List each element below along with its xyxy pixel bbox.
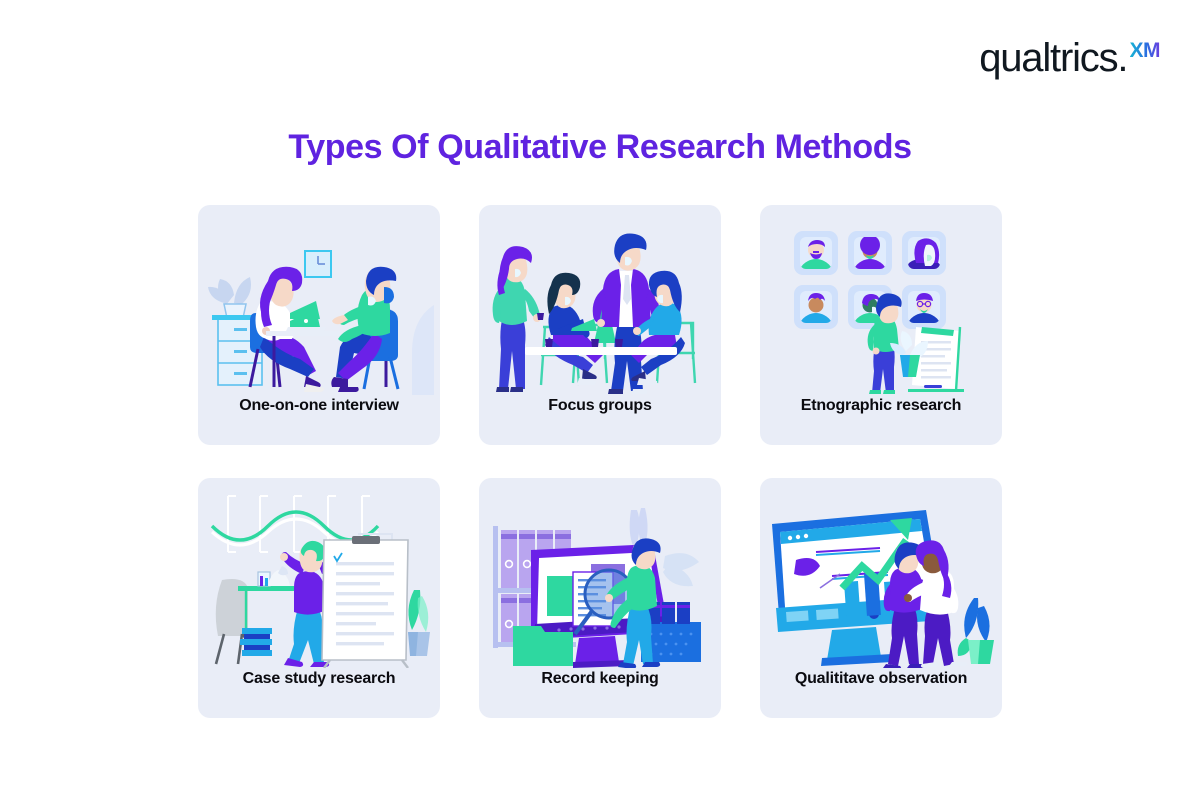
- illustration-avatar-grid-with-observer: [760, 205, 1002, 395]
- method-card-record-keeping[interactable]: Record keeping: [479, 478, 721, 718]
- illustration-monitor-charts-two-people: [760, 478, 1002, 668]
- infographic-page: qualtrics . XM Types Of Qualitative Rese…: [0, 0, 1200, 800]
- illustration-person-writing-on-flipchart: [198, 478, 440, 668]
- illustration-four-people-around-table: [479, 205, 721, 395]
- card-label-case-study-research: Case study research: [198, 670, 440, 688]
- method-card-one-on-one-interview[interactable]: One-on-one interview: [198, 205, 440, 445]
- method-card-focus-groups[interactable]: Focus groups: [479, 205, 721, 445]
- page-title: Types Of Qualitative Research Methods: [0, 128, 1200, 167]
- methods-grid: One-on-one interview: [198, 205, 1002, 718]
- card-label-record-keeping: Record keeping: [479, 670, 721, 688]
- method-card-qualititave-observation[interactable]: Qualititave observation: [760, 478, 1002, 718]
- card-label-focus-groups: Focus groups: [479, 397, 721, 415]
- illustration-monitor-document-magnifier-binders: [479, 478, 721, 668]
- qualtrics-logo: qualtrics . XM: [979, 38, 1160, 78]
- illustration-two-people-table-laptop-clock: [198, 205, 440, 395]
- card-label-one-on-one-interview: One-on-one interview: [198, 397, 440, 415]
- card-label-qualititave-observation: Qualititave observation: [760, 670, 1002, 688]
- method-card-case-study-research[interactable]: Case study research: [198, 478, 440, 718]
- method-card-etnographic-research[interactable]: Etnographic research: [760, 205, 1002, 445]
- logo-period: .: [1117, 38, 1128, 78]
- logo-xm-suffix: XM: [1130, 40, 1161, 61]
- card-label-etnographic-research: Etnographic research: [760, 397, 1002, 415]
- logo-wordmark: qualtrics: [979, 38, 1117, 78]
